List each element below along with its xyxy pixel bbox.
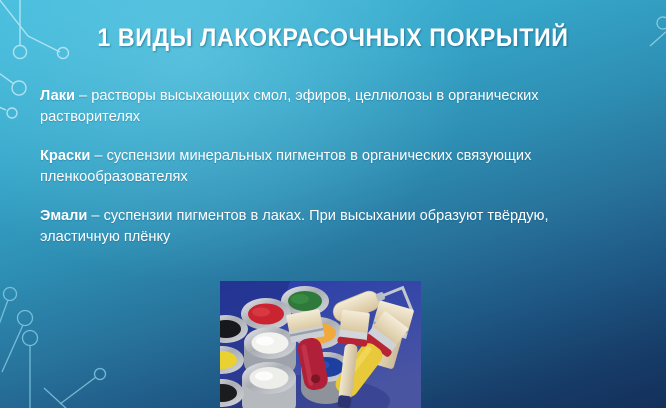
definition-emali: суспензии пигментов в лаках. При высыхан… [40, 208, 549, 245]
definition-paragraph-emali: Эмали – суспензии пигментов в лаках. При… [40, 206, 612, 248]
dash-emali: – [87, 208, 103, 224]
term-kraski: Краски [40, 148, 90, 164]
definition-kraski: суспензии минеральных пигментов в органи… [40, 148, 531, 185]
term-emali: Эмали [40, 208, 87, 224]
definition-laki: растворы высыхающих смол, эфиров, целлюл… [40, 88, 539, 125]
body-text-block: Лаки – растворы высыхающих смол, эфиров,… [40, 86, 612, 248]
page-title: 1 ВИДЫ ЛАКОКРАСОЧНЫХ ПОКРЫТИЙ [23, 24, 642, 53]
dash-laki: – [75, 88, 91, 104]
term-laki: Лаки [40, 88, 75, 104]
definition-paragraph-kraski: Краски – суспензии минеральных пигментов… [40, 146, 612, 188]
dash-kraski: – [90, 148, 106, 164]
paint-cans-and-brushes-photo [220, 281, 421, 408]
definition-paragraph-laki: Лаки – растворы высыхающих смол, эфиров,… [40, 86, 612, 128]
slide: 1 ВИДЫ ЛАКОКРАСОЧНЫХ ПОКРЫТИЙ Лаки – рас… [0, 0, 666, 408]
